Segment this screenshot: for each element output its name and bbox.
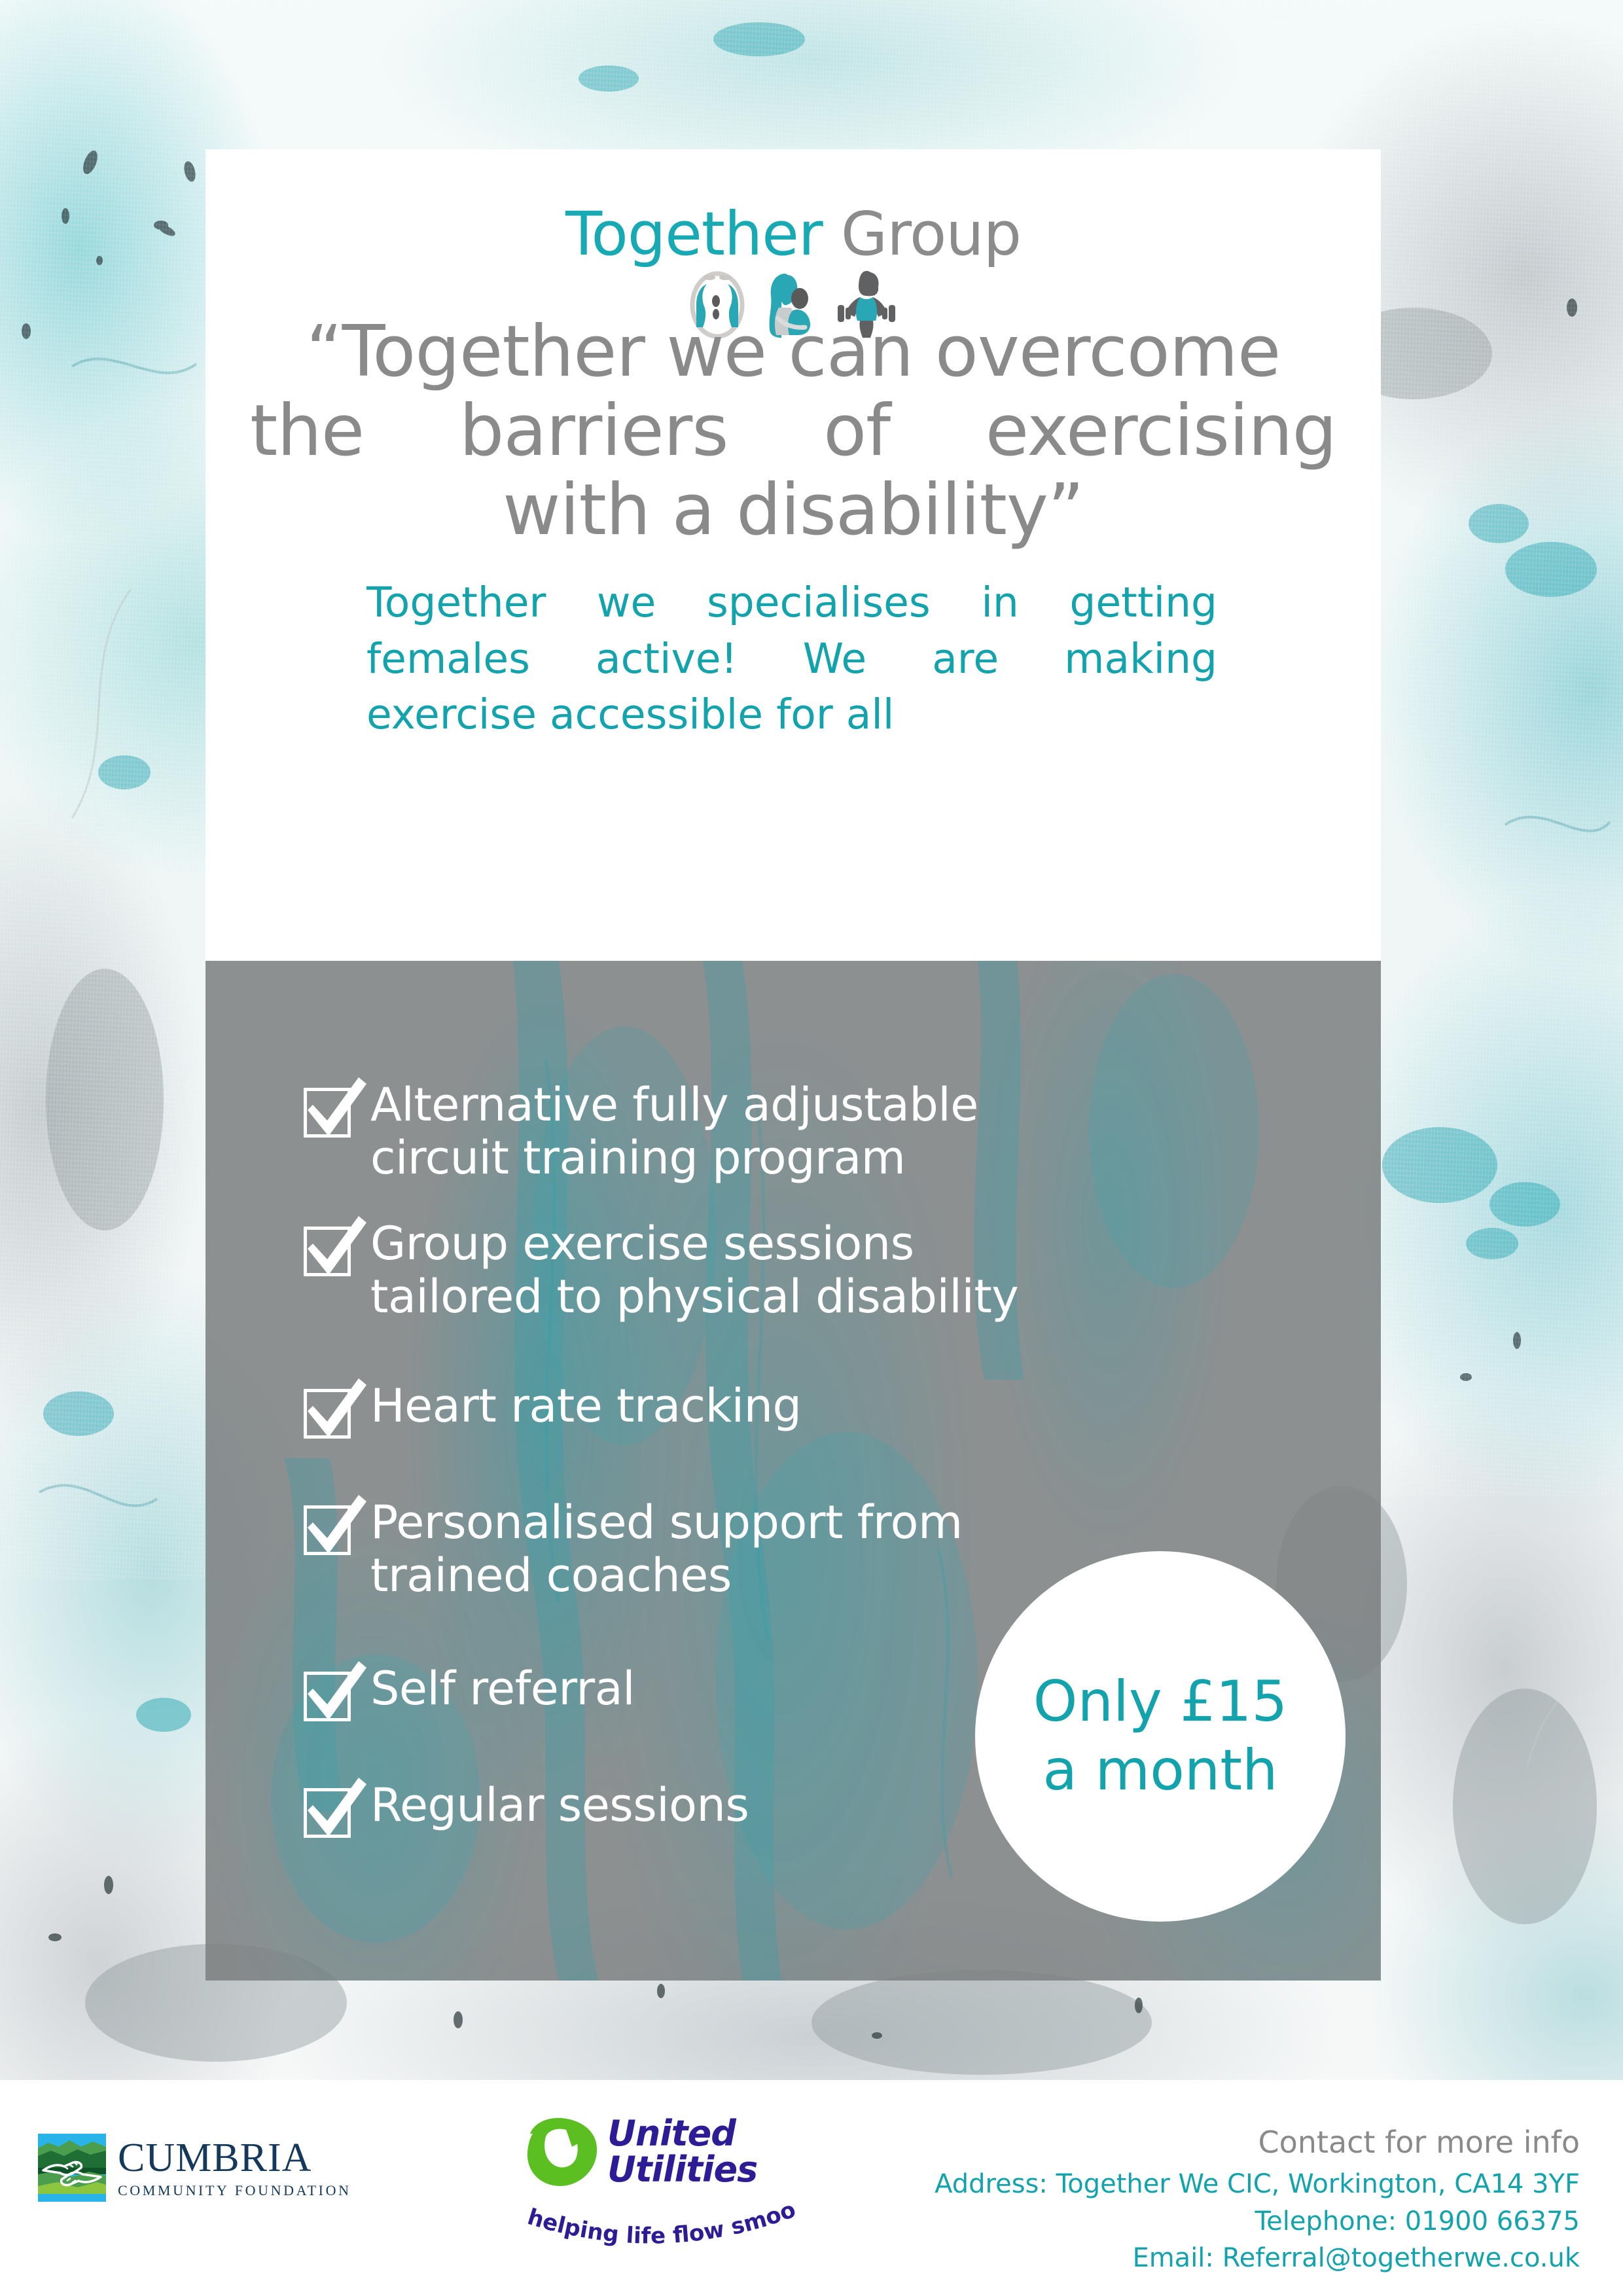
cumbria-logo-text: CUMBRIA COMMUNITY FOUNDATION	[118, 2138, 351, 2198]
contact-telephone: Telephone: 01900 66375	[935, 2203, 1580, 2240]
uu-line-2: Utilities	[607, 2149, 757, 2190]
checked-checkbox-icon	[301, 1784, 356, 1839]
feature-label-6: Regular sessions	[370, 1779, 749, 1832]
intro-paragraph: Together we specialises in getting femal…	[366, 575, 1217, 743]
logo-word-gray: Group	[823, 199, 1021, 269]
svg-text:helping life flow smoothly: helping life flow smoothly	[516, 2191, 797, 2250]
poster-canvas: Together Group	[0, 0, 1623, 2296]
checked-checkbox-icon	[301, 1223, 356, 1278]
feature-item-3: Heart rate tracking	[301, 1380, 955, 1440]
feature-item-6: Regular sessions	[301, 1779, 929, 1839]
intro-line-3: exercise accessible for all	[366, 687, 1217, 743]
checked-checkbox-icon	[301, 1084, 356, 1139]
headline-line-1: “Together we can overcome	[245, 313, 1342, 392]
feature-item-1: Alternative fully adjustable circuit tra…	[301, 1079, 1099, 1185]
logo-word-teal: Together	[565, 199, 823, 269]
feature-label-3: Heart rate tracking	[370, 1380, 801, 1433]
feature-label-4: Personalised support from trained coache…	[370, 1496, 963, 1602]
intro-line-2: females active! We are making	[366, 631, 1217, 687]
feature-item-4: Personalised support from trained coache…	[301, 1496, 1034, 1602]
united-utilities-logo: United Utilities helping life flow smoot…	[524, 2111, 798, 2242]
feature-label-2: Group exercise sessions tailored to phys…	[370, 1217, 1018, 1323]
cumbria-logo-name: CUMBRIA	[118, 2138, 351, 2178]
logo-wordmark: Together Group	[565, 204, 1021, 264]
united-utilities-tagline: helping life flow smoothly	[516, 2191, 797, 2250]
feature-label-5: Self referral	[370, 1662, 635, 1715]
footer: CUMBRIA COMMUNITY FOUNDATION United Util…	[0, 2080, 1623, 2296]
united-utilities-u-swoosh-icon	[524, 2117, 601, 2190]
contact-heading: Contact for more info	[935, 2123, 1580, 2162]
cumbria-logo-subtitle: COMMUNITY FOUNDATION	[118, 2183, 351, 2198]
white-content-card: Together Group	[205, 149, 1381, 961]
headline-line-2: the barriers of exercising	[245, 392, 1342, 471]
features-panel: Alternative fully adjustable circuit tra…	[205, 961, 1381, 1981]
uu-tagline-text: helping life flow smoothly	[516, 2191, 797, 2250]
cumbria-handshake-hills-icon	[38, 2134, 106, 2202]
cumbria-community-foundation-logo: CUMBRIA COMMUNITY FOUNDATION	[38, 2134, 351, 2202]
contact-address: Address: Together We CIC, Workington, CA…	[935, 2166, 1580, 2203]
intro-line-1: Together we specialises in getting	[366, 575, 1217, 631]
headline-line-3: with a disability”	[245, 471, 1342, 550]
checked-checkbox-icon	[301, 1501, 356, 1556]
feature-item-2: Group exercise sessions tailored to phys…	[301, 1217, 1139, 1323]
united-utilities-wordmark: United Utilities	[607, 2115, 757, 2187]
price-badge: Only £15 a month	[975, 1551, 1346, 1922]
contact-email: Email: Referral@togetherwe.co.uk	[935, 2240, 1580, 2277]
checked-checkbox-icon	[301, 1668, 356, 1723]
feature-item-5: Self referral	[301, 1662, 890, 1723]
feature-label-1: Alternative fully adjustable circuit tra…	[370, 1079, 978, 1185]
contact-block: Contact for more info Address: Together …	[935, 2123, 1580, 2277]
checked-checkbox-icon	[301, 1385, 356, 1440]
price-badge-period: a month	[1043, 1736, 1277, 1805]
page-title: “Together we can overcome the barriers o…	[245, 313, 1342, 550]
price-badge-amount: Only £15	[1033, 1668, 1287, 1736]
uu-line-1: United	[607, 2113, 736, 2154]
